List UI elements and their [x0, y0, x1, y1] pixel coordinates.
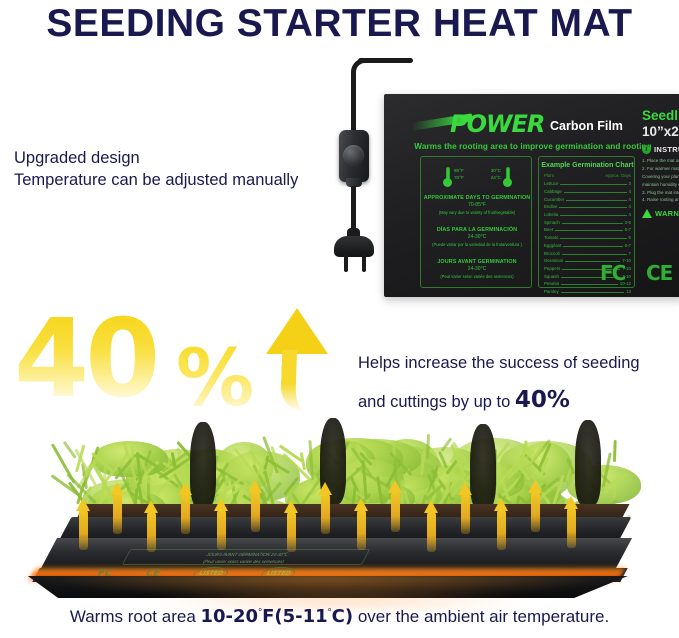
heat-rising-arrow-icon: [564, 496, 579, 548]
chart-row-plant: Cabbage: [544, 189, 562, 194]
fahrenheit-low: 70°F: [454, 175, 464, 182]
heat-rising-arrow-icon: [178, 482, 193, 534]
thermometer-bulb: [443, 178, 452, 187]
chart-row-plant: Eggplant: [544, 243, 561, 248]
caption-range-c: (5-11: [274, 606, 327, 627]
arrow-tail: [280, 350, 312, 412]
arrow-body: [217, 510, 226, 550]
heat-rising-arrow-icon: [214, 498, 229, 550]
chart-row-days: 13: [626, 289, 631, 294]
chart-row-leader: [566, 200, 626, 201]
chart-row-leader: [563, 246, 622, 247]
brand-logo: POWER Carbon Film: [412, 110, 662, 140]
heat-rising-arrow-icon: [284, 500, 299, 552]
germination-title: APPROXIMATE DAYS TO GERMINATION: [423, 195, 531, 202]
chart-row-leader: [559, 207, 626, 208]
seedling-blade: [299, 452, 305, 470]
helper-line-1: Helps increase the success of seeding: [358, 348, 676, 379]
germination-note: (May vary due to variety of fruit/vegeta…: [423, 210, 531, 216]
chart-row-days: 3: [629, 181, 631, 186]
chart-row-plant: Spinach: [544, 220, 560, 225]
chart-row: Beet5-7: [544, 226, 631, 234]
dark-seedling-plant: [575, 420, 601, 506]
dark-seedling-plant: [190, 422, 216, 508]
chart-row: Tomato6: [544, 234, 631, 242]
arrow-body: [147, 512, 156, 552]
chart-row-plant: Parsley: [544, 289, 559, 294]
instructions-list: 1. Place the mat on a well2. For warmer …: [642, 157, 679, 204]
chart-row-plant: Broccoli: [544, 251, 560, 256]
chart-row-plant: Squash: [544, 274, 559, 279]
germination-temp: 24-30°C: [423, 266, 531, 274]
arrow-body: [391, 492, 400, 532]
arrow-head: [266, 308, 328, 354]
arrow-body: [79, 510, 88, 550]
heat-rising-arrow-icon: [248, 480, 263, 532]
upgraded-line-2: Temperature can be adjusted manually: [14, 170, 298, 192]
chart-row-days: 3-6: [625, 220, 631, 225]
warning-triangle-icon: [642, 209, 652, 218]
chart-row-leader: [564, 192, 627, 193]
page-title: SEEDING STARTER HEAT MAT: [0, 2, 679, 46]
chart-row-days: 5-7: [625, 227, 631, 232]
stat-percent-symbol: %: [176, 334, 254, 424]
chart-row-leader: [562, 223, 623, 224]
product-label-panel: POWER Carbon Film Warms the rooting area…: [384, 94, 679, 297]
chart-row-plant: Lobelia: [544, 212, 558, 217]
cord-upper-segment: [351, 72, 356, 132]
chart-row-days: 4: [629, 204, 631, 209]
arrow-body: [531, 492, 540, 532]
warning-label: WARNING: [655, 209, 679, 218]
thermometer-celsius-icon: [503, 167, 512, 189]
seedling-size: 10”x20.7: [642, 124, 679, 140]
chart-row-plant: Peppers: [544, 266, 560, 271]
heat-rising-arrow-icon: [318, 482, 333, 534]
helper-line-2: and cuttings by up to 40%: [358, 379, 676, 422]
plug-body: [334, 236, 374, 257]
germination-block-french: JOURS AVANT GERMINATION 24-30°C (Peut va…: [423, 259, 531, 280]
heat-rising-arrow-icon: [528, 480, 543, 532]
arrow-body: [357, 510, 366, 550]
chart-row-plant: Cucumber: [544, 197, 564, 202]
instructions-label: INSTRUCT: [654, 145, 679, 154]
germination-title: JOURS AVANT GERMINATION: [423, 259, 531, 266]
bottom-caption: Warms root area 10-20°F(5-11°C) over the…: [0, 606, 679, 627]
chart-row-leader: [560, 238, 626, 239]
seedling-tray-scene: JOURS AVANT GERMINATION 24-30℃ (Peut var…: [18, 418, 648, 598]
arrow-body: [251, 492, 260, 532]
thermometer-bulb: [503, 178, 512, 187]
helper-text: Helps increase the success of seeding an…: [358, 348, 676, 421]
caption-prefix: Warms root area: [70, 607, 201, 626]
chart-row-days: 7: [629, 251, 631, 256]
chart-row-days: 6: [629, 235, 631, 240]
infographic-page: SEEDING STARTER HEAT MAT Upgraded design…: [0, 0, 679, 638]
germination-note: (Puede variar por la variedad de la frut…: [423, 242, 531, 248]
up-arrow-icon: [258, 308, 328, 412]
instruction-item: 3. Plug the mat into a 120: [642, 189, 679, 197]
chart-row-days: 4: [629, 189, 631, 194]
plug-prong-right: [362, 255, 366, 272]
arrow-body: [181, 494, 190, 534]
panel-tagline: Warms the rooting area to improve germin…: [408, 142, 658, 151]
chart-row: Broccoli7: [544, 249, 631, 257]
heat-rising-arrow-icon: [110, 482, 125, 534]
chart-row: Cucumber4: [544, 195, 631, 203]
germination-block-english: APPROXIMATE DAYS TO GERMINATION 70-85°F …: [423, 195, 531, 216]
heat-rising-arrow-icon: [458, 482, 473, 534]
fahrenheit-high: 85°F: [454, 168, 464, 175]
thermometer-row: 85°F 70°F 30°C 24°C: [427, 163, 527, 193]
germination-temperature-box: 85°F 70°F 30°C 24°C APPROXIMATE DAYS TO …: [420, 156, 532, 288]
chart-row-plant: Lettuce: [544, 181, 558, 186]
chart-row-days: 4: [629, 197, 631, 202]
caption-range-f: 10-20: [201, 606, 259, 627]
heat-rising-arrow-icon: [144, 500, 159, 552]
germination-title: DÍAS PARA LA GERMINACIÓN: [423, 227, 531, 234]
chart-col-plant: Plant: [544, 173, 554, 178]
instruction-item: maintain humidity contro: [642, 181, 679, 189]
heat-rising-arrow-icon: [76, 498, 91, 550]
chart-row-leader: [555, 230, 623, 231]
chart-row: Endive4: [544, 203, 631, 211]
cord-lower-segment: [351, 186, 356, 233]
chart-row: Eggplant6-7: [544, 242, 631, 250]
fahrenheit-labels: 85°F 70°F: [454, 168, 464, 182]
arrow-body: [287, 512, 296, 552]
instructions-header: i INSTRUCT: [642, 145, 679, 154]
seedling-blade: [613, 440, 617, 462]
germination-block-spanish: DÍAS PARA LA GERMINACIÓN 24-30°C (Puede …: [423, 227, 531, 248]
chart-col-days: Approx. Days: [605, 173, 631, 178]
germination-note: (Peut varier selon variée des semences): [423, 274, 531, 280]
caption-unit-c: C): [332, 606, 353, 627]
seedling-title: Seedling: [642, 108, 679, 124]
warning-header: WARNING: [642, 209, 679, 218]
chart-row-days: 4: [629, 212, 631, 217]
germination-temp: 70-85°F: [423, 202, 531, 210]
arrow-body: [497, 510, 506, 550]
arrow-body: [461, 494, 470, 534]
info-icon: i: [642, 145, 651, 154]
product-type-label: Carbon Film: [550, 119, 623, 133]
chart-row: Parsley13: [544, 288, 631, 296]
instruction-item: 1. Place the mat on a well: [642, 157, 679, 165]
celsius-labels: 30°C 24°C: [483, 168, 501, 182]
arrow-body: [567, 508, 576, 548]
arrow-body: [427, 512, 436, 552]
celsius-low: 24°C: [483, 175, 501, 182]
heat-rising-arrow-icon: [388, 480, 403, 532]
fcc-mark-icon: FC: [600, 261, 624, 285]
chart-row: Spinach3-6: [544, 218, 631, 226]
plug-prong-left: [344, 255, 348, 272]
chart-row-days: 6-7: [625, 243, 631, 248]
brand-logo-text: POWER: [450, 110, 544, 138]
mat-print-line-1: JOURS AVANT GERMINATION 24-30℃: [126, 552, 368, 559]
instruction-item: 2. For warmer mat temper: [642, 165, 679, 173]
mat-print-line-2: (Peut varier selon variée des semences): [122, 559, 364, 565]
arrow-body: [321, 494, 330, 534]
helper-highlight-value: 40%: [515, 387, 570, 413]
caption-unit-f: F: [262, 606, 274, 627]
chart-row-leader: [560, 215, 626, 216]
panel-inner: POWER Carbon Film Warms the rooting area…: [390, 98, 679, 291]
upgraded-line-1: Upgraded design: [14, 148, 298, 170]
chart-row-plant: Tomato: [544, 235, 558, 240]
chart-row-leader: [561, 292, 624, 293]
chart-row: Lobelia4: [544, 211, 631, 219]
upgraded-design-text: Upgraded design Temperature can be adjus…: [14, 148, 298, 192]
chart-row-plant: Geranium: [544, 258, 563, 263]
heat-mat-printed-text: JOURS AVANT GERMINATION 24-30℃ (Peut var…: [122, 549, 371, 565]
arrow-body: [113, 494, 122, 534]
instruction-item: Covering your plant tray: [642, 173, 679, 181]
chart-row-plant: Endive: [544, 204, 557, 209]
chart-row-leader: [560, 184, 626, 185]
celsius-high: 30°C: [483, 168, 501, 175]
stat-number: 40: [14, 306, 156, 414]
temperature-dial-knob[interactable]: [343, 145, 364, 166]
germination-temp: 24-30°C: [423, 234, 531, 242]
chart-row: Cabbage4: [544, 188, 631, 196]
chart-title: Example Germination Chart: [539, 162, 636, 169]
chart-row-plant: Beet: [544, 227, 553, 232]
thermometer-fahrenheit-icon: [443, 167, 452, 189]
heat-rising-arrow-icon: [424, 500, 439, 552]
dark-seedling-plant: [470, 424, 496, 510]
chart-header-row: Plant Approx. Days: [544, 173, 631, 178]
ce-mark-icon: CE: [646, 261, 672, 285]
caption-suffix: over the ambient air temperature.: [353, 607, 609, 626]
panel-right-column: Seedling 10”x20.7 i INSTRUCT 1. Place th…: [642, 108, 679, 218]
chart-row: Lettuce3: [544, 180, 631, 188]
heat-rising-arrow-icon: [354, 498, 369, 550]
instruction-item: 4. Raise rooting area temp: [642, 196, 679, 204]
heat-rising-arrow-icon: [494, 498, 509, 550]
helper-line-2-prefix: and cuttings by up to: [358, 393, 515, 411]
chart-row-leader: [562, 254, 627, 255]
chart-row-plant: Petunia: [544, 281, 559, 286]
